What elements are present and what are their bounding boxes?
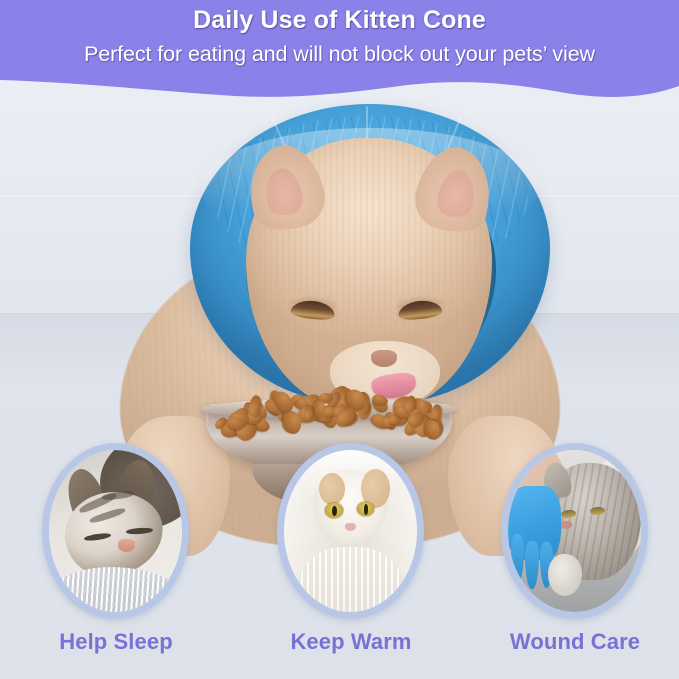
- benefit-photo-ring-help-sleep: [42, 443, 189, 619]
- benefit-label-help-sleep: Help Sleep: [0, 629, 232, 655]
- benefit-label-wound-care: Wound Care: [459, 629, 679, 655]
- banner-text-group: Daily Use of Kitten Cone Perfect for eat…: [0, 0, 679, 100]
- benefit-photo-ring-wound-care: [501, 443, 648, 619]
- benefit-photo-help-sleep: [49, 450, 182, 612]
- benefit-photo-keep-warm: [284, 450, 417, 612]
- header-banner: Daily Use of Kitten Cone Perfect for eat…: [0, 0, 679, 100]
- benefit-card-wound-care[interactable]: [501, 443, 648, 619]
- benefit-card-keep-warm[interactable]: [277, 443, 424, 619]
- benefit-card-help-sleep[interactable]: [42, 443, 189, 619]
- page-title: Daily Use of Kitten Cone: [193, 6, 486, 35]
- benefit-photo-wound-care: [508, 450, 641, 612]
- page-subtitle: Perfect for eating and will not block ou…: [84, 42, 595, 67]
- product-infographic: Daily Use of Kitten Cone Perfect for eat…: [0, 0, 679, 679]
- benefit-photo-ring-keep-warm: [277, 443, 424, 619]
- benefit-row: Help Sleep Keep: [0, 0, 679, 679]
- benefit-label-keep-warm: Keep Warm: [235, 629, 467, 655]
